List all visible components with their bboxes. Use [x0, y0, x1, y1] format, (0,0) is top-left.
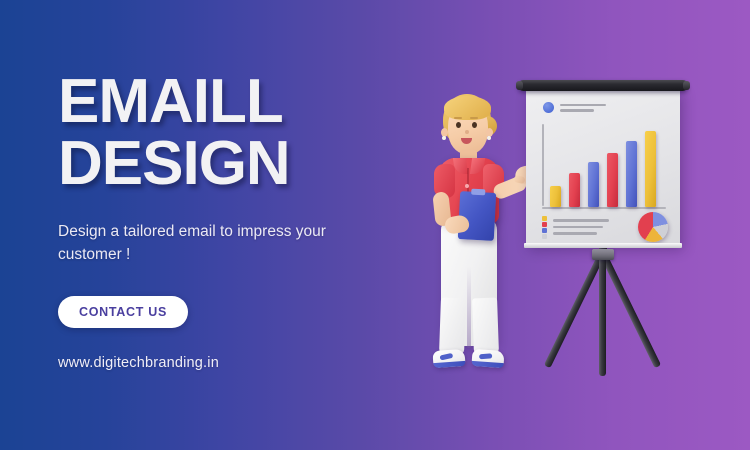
eye-right — [472, 122, 477, 128]
text-line — [560, 104, 606, 107]
trouser-leg-left — [439, 298, 466, 355]
text-line — [553, 219, 609, 222]
trouser-leg-gap — [467, 266, 471, 348]
chart-bars — [550, 127, 656, 207]
shoe-stripe — [439, 353, 453, 361]
board-summary-row — [542, 212, 668, 242]
tripod-leg-right — [601, 255, 661, 368]
chart-y-axis — [542, 124, 544, 206]
eye-left — [456, 122, 461, 128]
eyebrow-left — [454, 117, 462, 119]
hair-fringe — [444, 96, 491, 120]
clipboard-clip — [471, 189, 485, 196]
legend-swatch — [542, 228, 547, 233]
chart-bar — [626, 141, 637, 207]
earring-left — [442, 136, 446, 140]
tripod-collar — [592, 249, 614, 260]
shoe-sole — [433, 361, 465, 368]
email-design-banner: EMAILL DESIGN Design a tailored email to… — [0, 0, 750, 450]
website-url[interactable]: www.digitechbranding.in — [58, 355, 418, 371]
contact-us-button[interactable]: CONTACT US — [58, 296, 188, 328]
chart-bar — [588, 162, 599, 207]
pie-chart — [638, 212, 668, 242]
board-heading-row — [543, 102, 606, 113]
shirt-button — [465, 184, 469, 188]
text-line — [560, 109, 594, 112]
copy-block: EMAILL DESIGN Design a tailored email to… — [58, 72, 418, 371]
page-title-line-1: EMAILL — [58, 72, 418, 132]
hero-illustration — [415, 0, 750, 450]
legend-swatch — [542, 234, 547, 239]
nose — [465, 130, 469, 134]
text-line — [553, 232, 597, 235]
tripod-center-leg — [599, 258, 606, 376]
earring-right — [487, 136, 491, 140]
board-heading-lines — [560, 104, 606, 112]
whiteboard-bottom-lip — [524, 243, 682, 248]
shoe-sole — [471, 361, 503, 368]
chart-bar — [569, 173, 580, 207]
board-summary-lines — [553, 219, 632, 235]
page-title-line-2: DESIGN — [58, 134, 418, 194]
bar-chart — [542, 124, 667, 209]
chart-bar — [550, 186, 561, 207]
trouser-leg-right — [472, 298, 499, 355]
legend-swatch — [542, 222, 547, 227]
subtitle-text: Design a tailored email to impress your … — [58, 221, 358, 266]
text-line — [553, 226, 603, 229]
shoe-stripe — [479, 353, 492, 359]
shoe-right — [471, 349, 504, 368]
blue-circle-icon — [543, 102, 554, 113]
whiteboard-face — [526, 88, 680, 245]
eyebrow-right — [470, 117, 478, 119]
chart-bar — [607, 153, 618, 207]
chart-x-axis — [542, 207, 666, 209]
presenter-figure — [415, 88, 535, 388]
shoe-left — [432, 349, 465, 368]
tripod-leg-left — [544, 255, 604, 368]
legend-swatches — [542, 216, 547, 239]
legend-swatch — [542, 216, 547, 221]
whiteboard-roller-bar — [518, 80, 688, 91]
chart-bar — [645, 131, 656, 207]
